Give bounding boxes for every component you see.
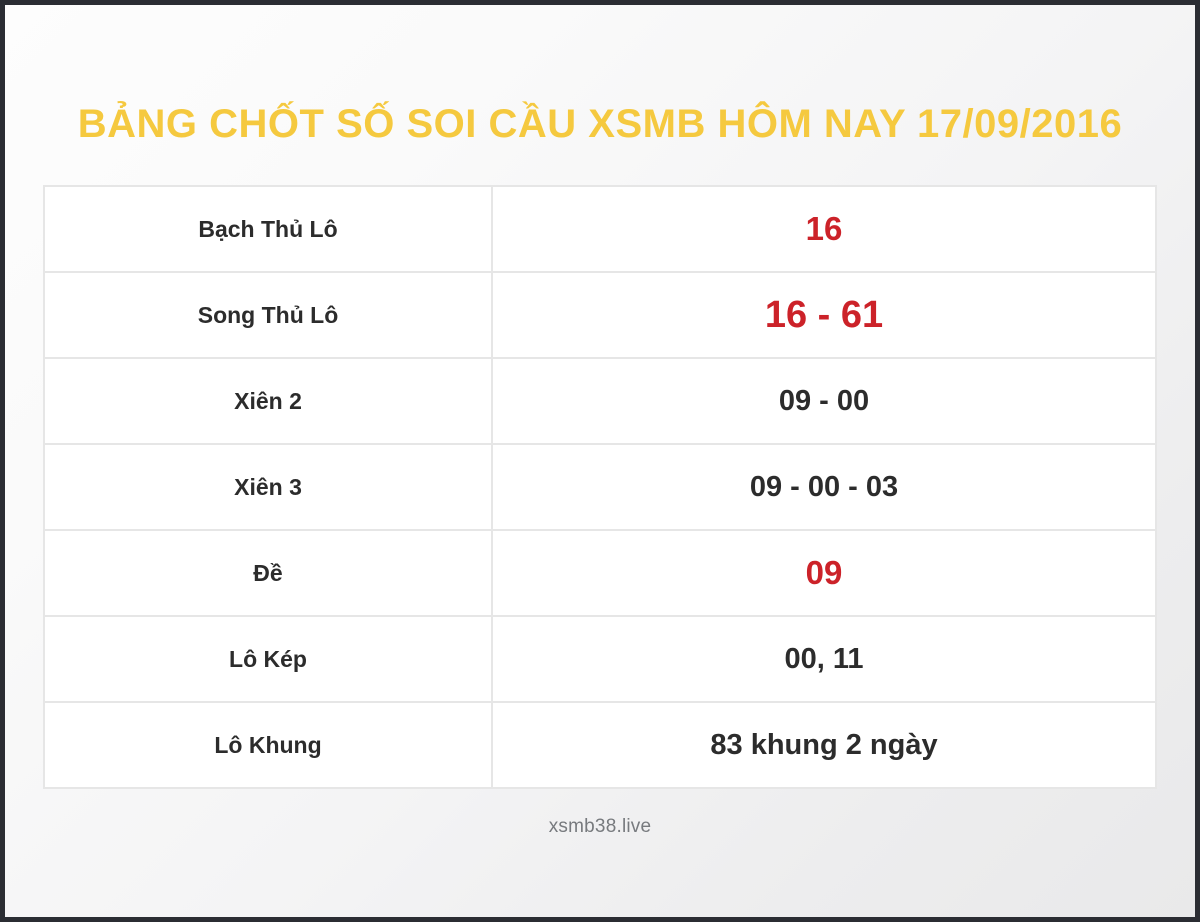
row-value: 09 - 00 [492, 358, 1156, 444]
row-label: Lô Khung [44, 702, 492, 788]
page-container: BẢNG CHỐT SỐ SOI CẦU XSMB HÔM NAY 17/09/… [0, 0, 1200, 922]
row-value: 09 - 00 - 03 [492, 444, 1156, 530]
table-row: Lô Khung 83 khung 2 ngày [44, 702, 1156, 788]
row-value: 16 - 61 [492, 272, 1156, 358]
row-value: 09 [492, 530, 1156, 616]
table-row: Song Thủ Lô 16 - 61 [44, 272, 1156, 358]
row-value: 16 [492, 186, 1156, 272]
table-body: Bạch Thủ Lô 16 Song Thủ Lô 16 - 61 Xiên … [44, 186, 1156, 788]
table-row: Lô Kép 00, 11 [44, 616, 1156, 702]
row-value: 83 khung 2 ngày [492, 702, 1156, 788]
table-row: Xiên 3 09 - 00 - 03 [44, 444, 1156, 530]
table-row: Bạch Thủ Lô 16 [44, 186, 1156, 272]
site-watermark: xsmb38.live [5, 816, 1195, 838]
lottery-prediction-table: Bạch Thủ Lô 16 Song Thủ Lô 16 - 61 Xiên … [43, 185, 1157, 789]
row-label: Đề [44, 530, 492, 616]
table-row: Xiên 2 09 - 00 [44, 358, 1156, 444]
lottery-table-wrapper: Bạch Thủ Lô 16 Song Thủ Lô 16 - 61 Xiên … [43, 185, 1157, 789]
row-value: 00, 11 [492, 616, 1156, 702]
row-label: Lô Kép [44, 616, 492, 702]
row-label: Song Thủ Lô [44, 272, 492, 358]
row-label: Xiên 3 [44, 444, 492, 530]
row-label: Bạch Thủ Lô [44, 186, 492, 272]
page-title: BẢNG CHỐT SỐ SOI CẦU XSMB HÔM NAY 17/09/… [5, 104, 1195, 144]
row-label: Xiên 2 [44, 358, 492, 444]
table-row: Đề 09 [44, 530, 1156, 616]
